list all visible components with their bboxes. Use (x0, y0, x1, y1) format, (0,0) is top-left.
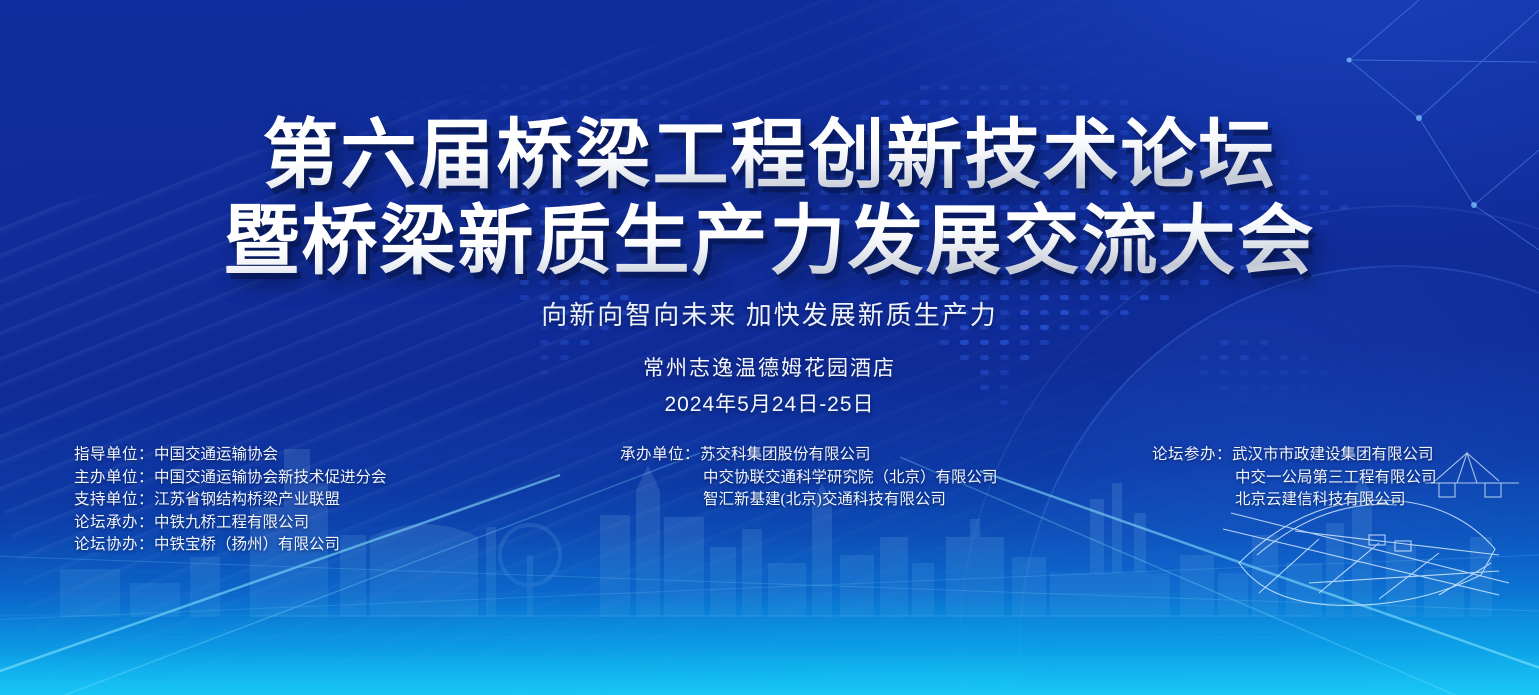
credit-row: 论坛协办：中铁宝桥（扬州）有限公司 (74, 534, 387, 557)
credit-row: 承办单位：苏交科集团股份有限公司 (620, 444, 998, 467)
credit-label: 论坛协办： (74, 536, 154, 553)
title-line-2: 暨桥梁新质生产力发展交流大会 (0, 198, 1539, 284)
credit-row: 中交协联交通科学研究院（北京）有限公司 (620, 467, 998, 490)
credit-value: 中铁九桥工程有限公司 (154, 514, 309, 531)
credit-label: 论坛参办： (1152, 446, 1232, 463)
credits-column-left: 指导单位：中国交通运输协会主办单位：中国交通运输协会新技术促进分会支持单位：江苏… (74, 444, 387, 557)
credit-row: 论坛参办：武汉市市政建设集团有限公司 (1152, 444, 1437, 467)
credits-section: 指导单位：中国交通运输协会主办单位：中国交通运输协会新技术促进分会支持单位：江苏… (0, 444, 1539, 564)
credit-value: 中交一公局第三工程有限公司 (1235, 469, 1437, 486)
credit-value: 武汉市市政建设集团有限公司 (1232, 446, 1434, 463)
credit-label: 主办单位： (74, 469, 154, 486)
credit-label: 论坛承办： (74, 514, 154, 531)
credit-row: 主办单位：中国交通运输协会新技术促进分会 (74, 467, 387, 490)
credit-row: 指导单位：中国交通运输协会 (74, 444, 387, 467)
title-line-1: 第六届桥梁工程创新技术论坛 (0, 112, 1539, 198)
credit-value: 中国交通运输协会新技术促进分会 (154, 469, 387, 486)
credits-column-middle: 承办单位：苏交科集团股份有限公司中交协联交通科学研究院（北京）有限公司智汇新基建… (620, 444, 998, 512)
credit-value: 苏交科集团股份有限公司 (700, 446, 871, 463)
conference-banner: 第六届桥梁工程创新技术论坛 暨桥梁新质生产力发展交流大会 向新向智向未来 加快发… (0, 0, 1539, 695)
credit-value: 江苏省钢结构桥梁产业联盟 (154, 491, 340, 508)
credit-label: 指导单位： (74, 446, 154, 463)
event-venue: 常州志逸温德姆花园酒店 (0, 352, 1539, 382)
credit-value: 智汇新基建(北京)交通科技有限公司 (703, 491, 946, 508)
credit-row: 中交一公局第三工程有限公司 (1152, 467, 1437, 490)
banner-title-block: 第六届桥梁工程创新技术论坛 暨桥梁新质生产力发展交流大会 (0, 112, 1539, 284)
event-date: 2024年5月24日-25日 (0, 388, 1539, 418)
credit-value: 中国交通运输协会 (154, 446, 278, 463)
banner-subtitle: 向新向智向未来 加快发展新质生产力 (0, 295, 1539, 332)
credit-row: 支持单位：江苏省钢结构桥梁产业联盟 (74, 489, 387, 512)
credits-column-right: 论坛参办：武汉市市政建设集团有限公司中交一公局第三工程有限公司北京云建信科技有限… (1152, 444, 1437, 512)
credit-row: 北京云建信科技有限公司 (1152, 489, 1437, 512)
credit-row: 论坛承办：中铁九桥工程有限公司 (74, 512, 387, 535)
credit-value: 中铁宝桥（扬州）有限公司 (154, 536, 340, 553)
credit-value: 中交协联交通科学研究院（北京）有限公司 (703, 469, 998, 486)
credit-label: 支持单位： (74, 491, 154, 508)
event-meta: 常州志逸温德姆花园酒店 2024年5月24日-25日 (0, 352, 1539, 418)
credit-label: 承办单位： (620, 446, 700, 463)
credit-row: 智汇新基建(北京)交通科技有限公司 (620, 489, 998, 512)
credit-value: 北京云建信科技有限公司 (1235, 491, 1406, 508)
